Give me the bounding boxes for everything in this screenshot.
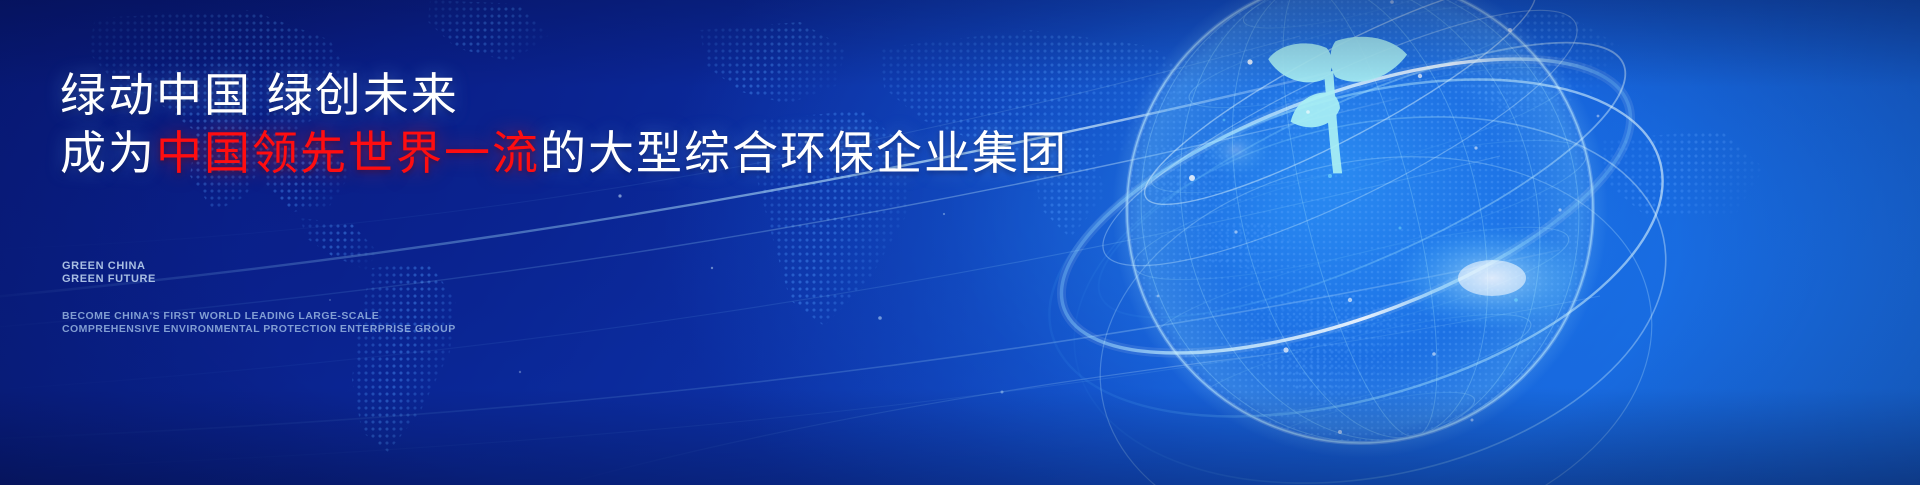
hero-banner: 绿动中国 绿创未来 成为中国领先世界一流的大型综合环保企业集团 GREEN CH…: [0, 0, 1920, 485]
headline-highlight: 中国领先世界一流: [156, 127, 540, 179]
headline-prefix: 成为: [60, 127, 156, 179]
tagline-line-2: COMPREHENSIVE ENVIRONMENTAL PROTECTION E…: [62, 323, 456, 336]
slogan-line-1: GREEN CHINA: [62, 260, 156, 273]
headline-block: 绿动中国 绿创未来 成为中国领先世界一流的大型综合环保企业集团: [60, 72, 1060, 176]
headline-line-2: 成为中国领先世界一流的大型综合环保企业集团: [60, 130, 1060, 176]
english-slogan: GREEN CHINA GREEN FUTURE: [62, 260, 156, 286]
headline-line-1: 绿动中国 绿创未来: [60, 72, 1060, 118]
english-tagline: BECOME CHINA'S FIRST WORLD LEADING LARGE…: [62, 310, 456, 335]
headline-suffix: 的大型综合环保企业集团: [540, 127, 1068, 179]
tagline-line-1: BECOME CHINA'S FIRST WORLD LEADING LARGE…: [62, 310, 456, 323]
slogan-line-2: GREEN FUTURE: [62, 273, 156, 286]
sprout-leaf-icon: [1268, 37, 1407, 174]
globe-graphic: [1040, 0, 1680, 485]
